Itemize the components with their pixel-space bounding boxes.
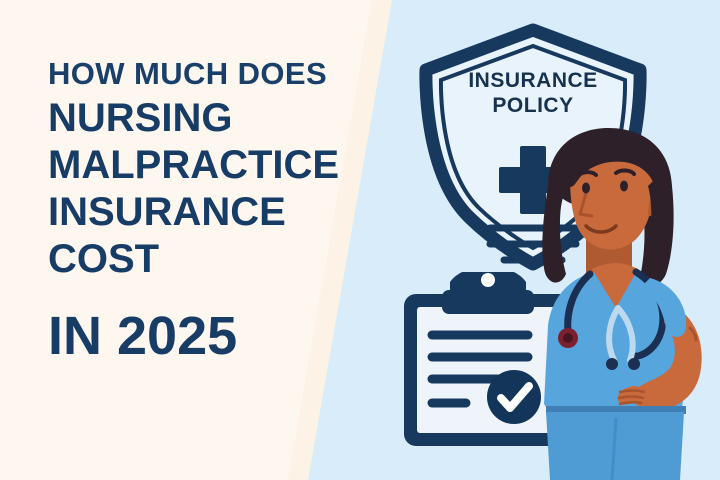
nursing-malpractice-insurance-banner: HOW MUCH DOES NURSING MALPRACTICE INSURA… [0,0,720,480]
eye-right [620,181,628,192]
shield-title-line-1: INSURANCE [408,69,658,93]
headline-block: HOW MUCH DOES NURSING MALPRACTICE INSURA… [48,58,438,363]
nurse-figure [520,128,720,480]
headline-line-4: INSURANCE [48,192,438,232]
headline-line-5: COST [48,239,438,279]
headline-line-1: HOW MUCH DOES [48,58,438,89]
stethoscope-earpiece-left [606,358,618,370]
eye-left [582,183,590,194]
stethoscope-earpiece-right [628,358,640,370]
shield-title-line-2: POLICY [408,94,658,118]
headline-line-2: NURSING [48,98,438,138]
nurse-illustration [520,128,720,480]
headline-line-3: MALPRACTICE [48,145,438,185]
headline-year: IN 2025 [48,309,438,363]
stethoscope-bell-center [563,333,573,343]
